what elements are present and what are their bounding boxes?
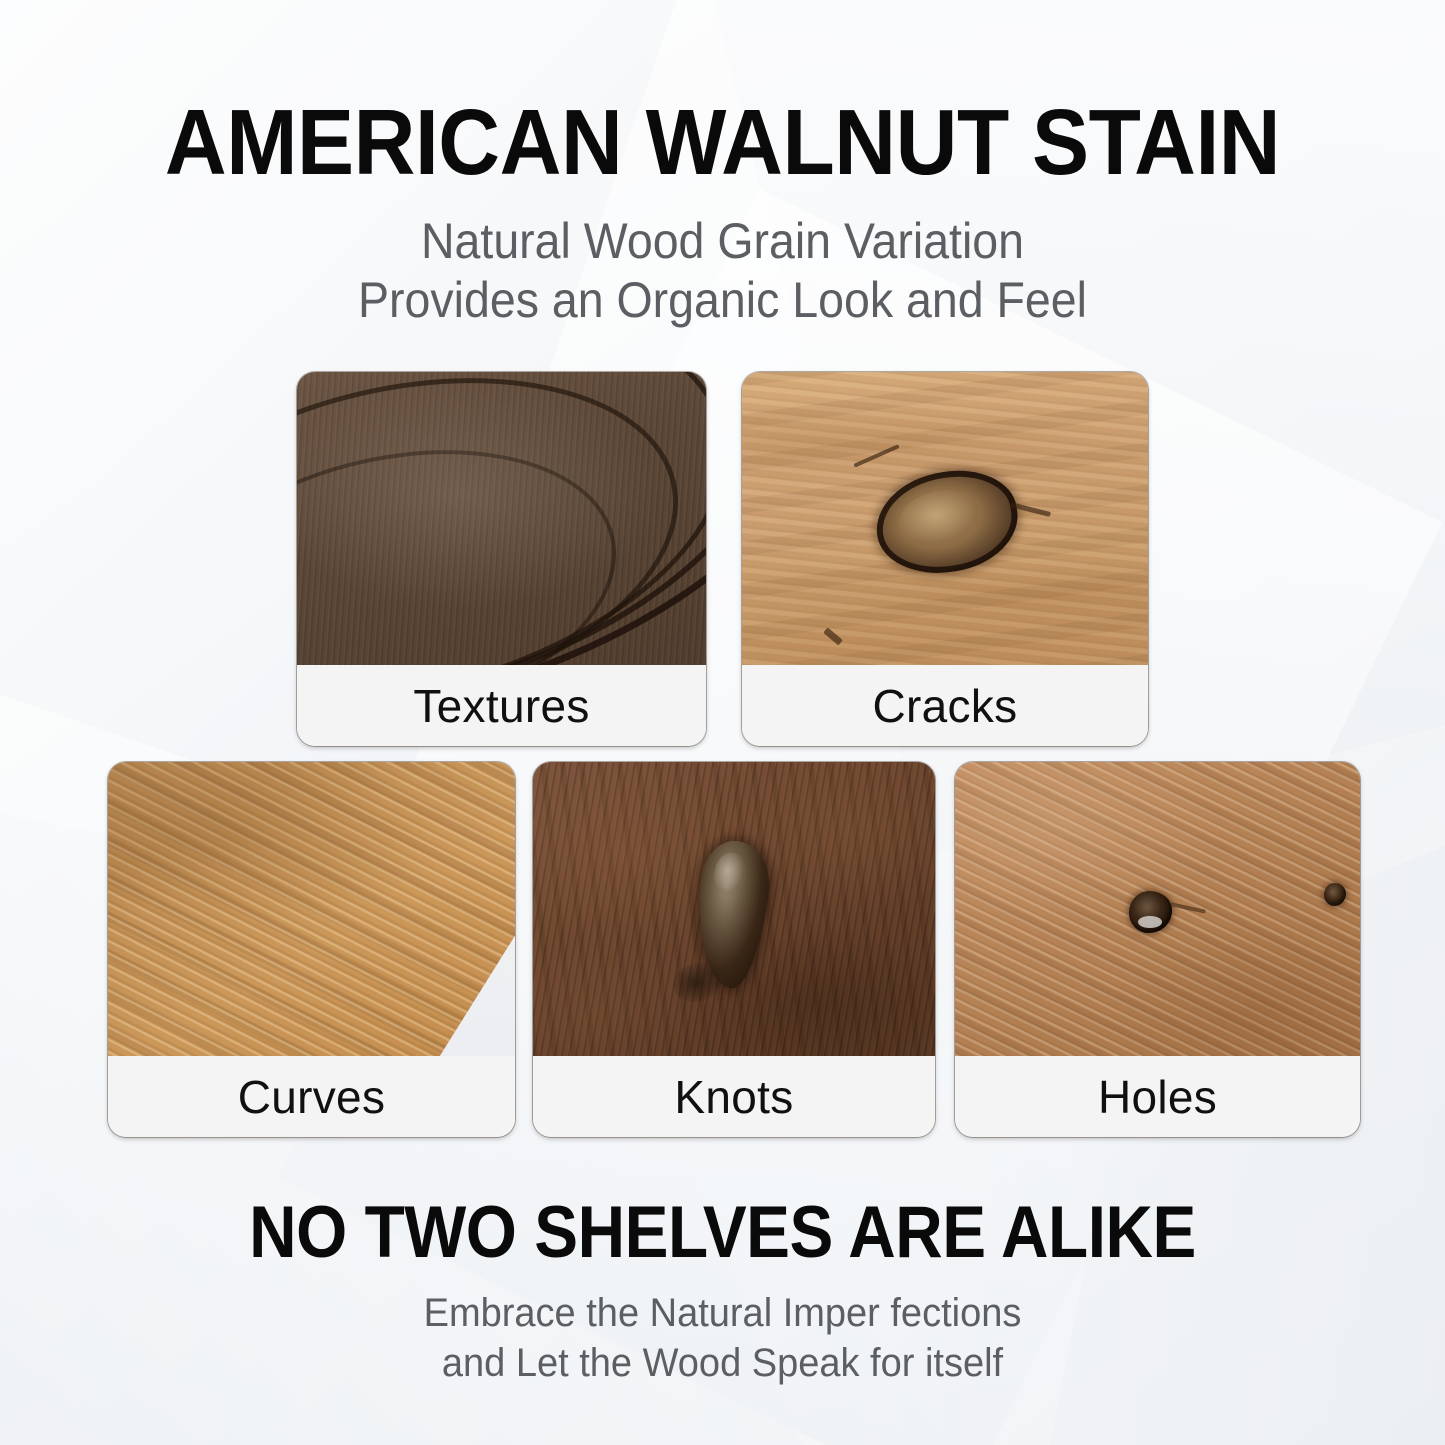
feature-image-textures <box>297 372 706 665</box>
feature-image-knots <box>533 762 935 1056</box>
feature-card-label-knots: Knots <box>533 1056 935 1137</box>
wood-texture-swatch-cracks <box>742 372 1148 665</box>
wood-texture-swatch-curves <box>108 762 515 1056</box>
feature-image-holes <box>955 762 1360 1056</box>
wood-texture-swatch-knots <box>533 762 935 1056</box>
feature-image-cracks <box>742 372 1148 665</box>
infographic-poster: AMERICAN WALNUT STAIN Natural Wood Grain… <box>0 0 1445 1445</box>
feature-card-cracks[interactable]: Cracks <box>742 372 1148 746</box>
page-subtitle-line-2: Provides an Organic Look and Feel <box>51 271 1395 330</box>
wood-hole-icon <box>1129 891 1172 932</box>
footer-headline: NO TWO SHELVES ARE ALIKE <box>72 1196 1373 1269</box>
page-subtitle-line-1: Natural Wood Grain Variation <box>51 212 1395 271</box>
feature-card-curves[interactable]: Curves <box>108 762 515 1137</box>
feature-card-label-curves: Curves <box>108 1056 515 1137</box>
feature-card-label-cracks: Cracks <box>742 665 1148 746</box>
wood-texture-swatch-holes <box>955 762 1360 1056</box>
page-subtitle: Natural Wood Grain Variation Provides an… <box>51 212 1395 330</box>
feature-card-textures[interactable]: Textures <box>297 372 706 746</box>
footer-subtitle: Embrace the Natural Imper fections and L… <box>36 1288 1409 1388</box>
footer-subtitle-line-1: Embrace the Natural Imper fections <box>36 1288 1409 1338</box>
feature-card-knots[interactable]: Knots <box>533 762 935 1137</box>
feature-card-label-holes: Holes <box>955 1056 1360 1137</box>
page-title: AMERICAN WALNUT STAIN <box>58 96 1387 189</box>
live-edge-icon <box>108 762 515 1056</box>
wood-texture-swatch-textures <box>297 372 706 665</box>
footer-subtitle-line-2: and Let the Wood Speak for itself <box>36 1338 1409 1388</box>
surface-highlight <box>297 372 706 665</box>
feature-image-curves <box>108 762 515 1056</box>
feature-card-holes[interactable]: Holes <box>955 762 1360 1137</box>
feature-card-label-textures: Textures <box>297 665 706 746</box>
